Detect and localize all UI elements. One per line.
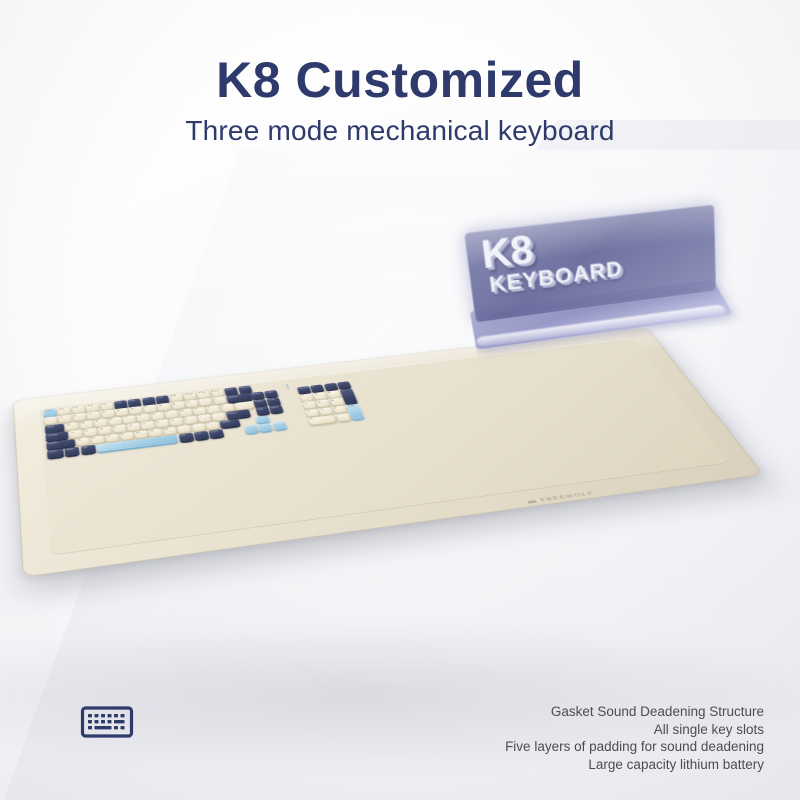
- keycap-label: →: [274, 423, 279, 426]
- brand-logo: FREEWOLF: [525, 490, 595, 504]
- keycap-label: G: [128, 424, 132, 427]
- keycap[interactable]: Ctrl: [209, 429, 225, 438]
- keyboard-icon: [80, 703, 134, 741]
- keycap-label: H: [143, 422, 147, 425]
- keycap-label: +: [342, 390, 345, 392]
- keycap-label: I: [166, 412, 168, 414]
- keycap-label: O: [180, 410, 184, 413]
- keyboard-icon-badge: [80, 703, 134, 741]
- keycap-label: ↓: [260, 425, 263, 428]
- keycap-label: ': [213, 414, 214, 416]
- acrylic-display-stand-scene: K8 KEYBOARD: [468, 252, 768, 452]
- keycap[interactable]: Z: [76, 437, 90, 446]
- keycap-label: Shift: [221, 420, 230, 423]
- keycap-label: L: [185, 417, 188, 420]
- keycap-label: 5: [318, 401, 321, 403]
- keycap-label: .: [337, 415, 339, 417]
- keycap-label: 3: [88, 413, 91, 416]
- keycap-label: 4: [304, 402, 307, 404]
- keycap-label: 5: [117, 410, 120, 413]
- keycap-label: 2: [320, 409, 323, 411]
- keycap-label: End: [252, 392, 260, 395]
- keycap[interactable]: Caps: [45, 431, 68, 441]
- page-title: K8 Customized: [0, 54, 800, 107]
- keycap-label: F2: [73, 406, 78, 409]
- keycap-label: F5: [115, 401, 120, 404]
- keycap-label: 9: [173, 403, 176, 405]
- keycap-label: Num: [298, 387, 307, 390]
- keycap-label: W: [81, 422, 85, 425]
- keycap-label: PgD: [255, 400, 264, 403]
- status-led: [287, 388, 289, 389]
- keycap-label: 0: [187, 401, 190, 403]
- keycap-label: F6: [129, 400, 134, 403]
- keycap-label: 0: [310, 418, 313, 421]
- keycap-label: -: [200, 400, 202, 402]
- keycap-label: 7: [301, 395, 304, 397]
- keycap-label: 9: [328, 392, 331, 394]
- keycap-label: Ent: [348, 405, 355, 408]
- keycap[interactable]: Win: [65, 447, 80, 456]
- keycap[interactable]: Shift: [46, 439, 75, 450]
- keycap-label: 6: [131, 408, 134, 410]
- keycap-label: Win: [66, 448, 74, 451]
- keycap-label: Q: [67, 423, 71, 426]
- wolf-emblem-icon: [525, 498, 539, 504]
- keycap-label: E: [95, 420, 98, 423]
- keycap-label: Ins: [268, 398, 274, 401]
- keycap[interactable]: Enter: [225, 409, 250, 419]
- keycap-label: Del: [271, 406, 278, 409]
- keycap[interactable]: B: [134, 430, 148, 439]
- keycap-label: N: [150, 430, 154, 433]
- keycap-label: ]: [222, 405, 224, 407]
- feature-list: Gasket Sound Deadening Structure All sin…: [344, 703, 764, 773]
- keycap[interactable]: Alt: [178, 433, 194, 442]
- keycap-label: F3: [87, 405, 92, 408]
- keycap-label: ;: [199, 416, 201, 418]
- keycap-label: 1: [307, 410, 310, 413]
- keycap[interactable]: V: [120, 432, 134, 441]
- keycap-label: ,: [179, 427, 181, 429]
- keycap-label: F11: [199, 391, 206, 394]
- keycap-label: 1: [60, 416, 63, 419]
- keycap-label: Ctrl: [211, 430, 218, 433]
- keycap-label: F8: [157, 397, 162, 400]
- keycap-label: ↑: [257, 417, 260, 420]
- keycap-label: \: [236, 403, 238, 405]
- keycap[interactable]: Ctrl: [47, 449, 64, 459]
- keycap-label: Del: [226, 388, 233, 391]
- keycap-label: *: [325, 384, 327, 386]
- keycap[interactable]: [96, 435, 178, 453]
- brand-logo-text: FREEWOLF: [539, 490, 595, 502]
- keycap-label: F12: [212, 390, 220, 393]
- keycap-label: F1: [59, 408, 64, 411]
- keycap-label: P: [194, 408, 197, 411]
- keycap-label: /: [312, 386, 314, 388]
- keycap-label: J: [157, 421, 160, 424]
- keycap-label: ~: [46, 418, 49, 421]
- keycap-label: Esc: [45, 410, 52, 413]
- keycap-label: F4: [101, 403, 106, 406]
- keycap[interactable]: \: [234, 401, 255, 410]
- keycap-label: 2: [74, 415, 77, 418]
- keycap-label: 8: [315, 393, 318, 395]
- arrow-keycap[interactable]: ↓: [258, 423, 273, 432]
- keycap-label: Tab: [46, 425, 53, 428]
- keycap[interactable]: X: [91, 435, 105, 444]
- keycap-label: 8: [159, 404, 162, 406]
- keycap-label: A: [71, 431, 74, 434]
- feature-item: All single key slots: [344, 721, 764, 739]
- product-hero-image: K8 Customized Three mode mechanical keyb…: [0, 0, 800, 800]
- arrow-keycap[interactable]: →: [272, 421, 287, 430]
- keycap-label: X: [92, 437, 95, 440]
- nav-keycap[interactable]: Ctl: [255, 406, 270, 415]
- keycap-label: [: [208, 407, 210, 409]
- keycap-label: F7: [143, 398, 148, 401]
- keycap-label: Shift: [48, 442, 57, 445]
- arrow-keycap[interactable]: ←: [244, 425, 259, 434]
- keycap-label: F9: [171, 395, 176, 398]
- keycap-label: Fn: [195, 432, 201, 435]
- keycap-label: V: [121, 433, 124, 436]
- feature-item: Five layers of padding for sound deadeni…: [344, 738, 764, 756]
- nav-keycap[interactable]: Del: [269, 405, 284, 413]
- keycap-label: R: [110, 418, 113, 421]
- keycap-label: 6: [331, 399, 334, 401]
- keycap-label: PgU: [266, 391, 275, 394]
- keycap-label: 7: [145, 406, 148, 408]
- keycap-label: C: [107, 435, 111, 438]
- keycap-label: T: [124, 417, 127, 420]
- keycap-label: =: [214, 398, 217, 400]
- keycap-label: ←: [246, 426, 251, 429]
- acrylic-display-stand: K8 KEYBOARD: [472, 271, 742, 373]
- keycap-label: Home: [239, 386, 251, 389]
- keycap-label: Y: [138, 415, 141, 418]
- feature-item: Gasket Sound Deadening Structure: [344, 703, 764, 721]
- headline-block: K8 Customized Three mode mechanical keyb…: [0, 54, 800, 147]
- keycap-label: Alt: [180, 434, 186, 437]
- keycap-label: 3: [334, 407, 337, 409]
- keycap-label: K: [171, 419, 174, 422]
- keycap-label: Enter: [227, 411, 238, 414]
- keycap-label: .: [193, 425, 195, 427]
- keycap-label: Alt: [82, 446, 88, 449]
- keycap-label: /: [207, 423, 209, 425]
- keycap[interactable]: A: [69, 429, 83, 438]
- keycap-label: S: [85, 429, 88, 432]
- keycap-label: F10: [185, 393, 193, 396]
- keycap-label: Z: [78, 439, 81, 442]
- feature-item: Large capacity lithium battery: [344, 756, 764, 774]
- keycap-label: 4: [103, 411, 106, 414]
- keycap-label: M: [164, 428, 168, 431]
- keycap-label: Ctrl: [49, 450, 56, 453]
- keycap-label: Back: [228, 395, 238, 398]
- numpad-keycap[interactable]: .: [336, 413, 351, 422]
- keycap-label: Ctl: [257, 408, 263, 411]
- page-subtitle: Three mode mechanical keyboard: [0, 114, 800, 148]
- keycap-label: -: [339, 383, 341, 385]
- keycap[interactable]: Shift: [219, 419, 241, 429]
- keycap[interactable]: C: [105, 433, 119, 442]
- keycap[interactable]: Fn: [194, 431, 210, 440]
- keycap[interactable]: Alt: [81, 445, 96, 454]
- keycap-label: B: [136, 432, 139, 435]
- keycap-label: F: [114, 426, 117, 429]
- keycap-label: D: [100, 428, 104, 431]
- keycap-label: U: [152, 413, 156, 416]
- keycap-label: Caps: [47, 433, 58, 437]
